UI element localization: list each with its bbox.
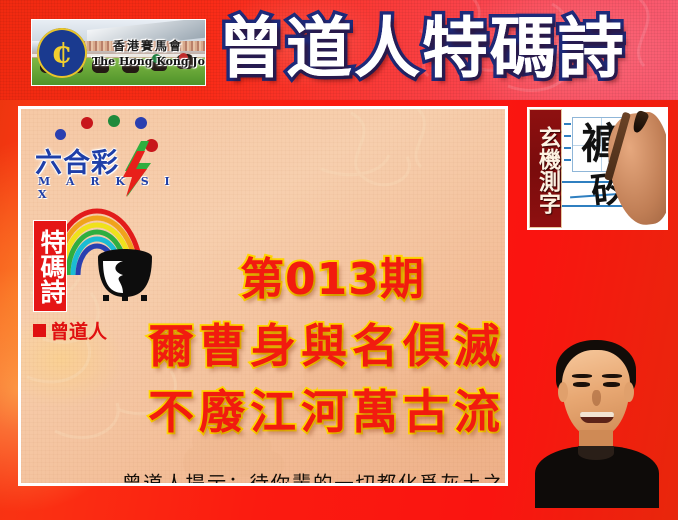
hint-paragraph: 曾道人提示：待你輩的一切都化爲灰土之後，也絲毫無傷於滔滔江河的萬古奔流，針對當時… — [84, 466, 504, 486]
portrait-nose — [592, 390, 601, 406]
te-ma-shi-badge: 特碼詩 — [33, 220, 67, 312]
portrait-mouth — [580, 412, 614, 423]
hkjc-emblem-icon: ¢ — [37, 28, 87, 78]
hkjc-name-cn: 香港賽馬會 — [92, 37, 204, 54]
mark-six-logo: 六合彩 M A R K S I X — [29, 115, 179, 201]
hkjc-label-block: 香港賽馬會 The Hong Kong Jockey Club — [92, 37, 204, 68]
red-square-bullet-icon — [33, 324, 46, 337]
main-content-panel: 六合彩 M A R K S I X — [18, 106, 508, 486]
hkjc-logo: ¢ 香港賽馬會 The Hong Kong Jockey Club — [31, 19, 206, 86]
grid-dash-icon — [564, 159, 571, 161]
grid-dash-icon — [564, 123, 571, 125]
poster-root: ¢ 香港賽馬會 The Hong Kong Jockey Club 曾道人特碼詩… — [0, 0, 678, 520]
hkjc-name-en: The Hong Kong Jockey Club — [92, 55, 204, 68]
lottery-ball-icon — [135, 117, 147, 129]
poem-line-2: 不廢江河萬古流 — [148, 376, 505, 442]
hkjc-emblem-glyph: ¢ — [51, 38, 73, 69]
lottery-ball-icon — [108, 115, 120, 127]
header-banner: ¢ 香港賽馬會 The Hong Kong Jockey Club 曾道人特碼詩… — [0, 0, 678, 100]
portrait-brow — [602, 374, 622, 378]
portrait-ear — [558, 382, 568, 402]
author-credit: 曾道人 — [33, 317, 107, 344]
lottery-ball-icon — [55, 129, 66, 140]
xuanji-vertical-label: 玄機測字 — [529, 109, 562, 228]
lottery-ball-icon — [81, 117, 93, 129]
master-portrait-icon — [532, 334, 662, 508]
xuanji-cezi-card[interactable]: 玄機測字 褲 矽 — [527, 107, 668, 230]
poem-line-1: 爾曹身與名俱滅 — [148, 310, 505, 376]
issue-number: 第013期 — [240, 243, 425, 307]
portrait-teeth — [580, 412, 614, 417]
portrait-eye — [603, 382, 620, 387]
calligraphy-image: 褲 矽 — [562, 109, 666, 228]
author-name: 曾道人 — [50, 321, 107, 343]
page-title: 曾道人特碼詩 — [218, 9, 626, 89]
portrait-brow — [572, 374, 592, 378]
portrait-eye — [573, 382, 590, 387]
grid-dash-icon — [564, 147, 571, 149]
grid-dash-icon — [564, 135, 571, 137]
lightning-bolt-icon — [121, 141, 151, 197]
portrait-ear — [624, 382, 634, 402]
pot-of-gold-icon — [93, 245, 157, 301]
portrait-collar — [578, 446, 614, 460]
